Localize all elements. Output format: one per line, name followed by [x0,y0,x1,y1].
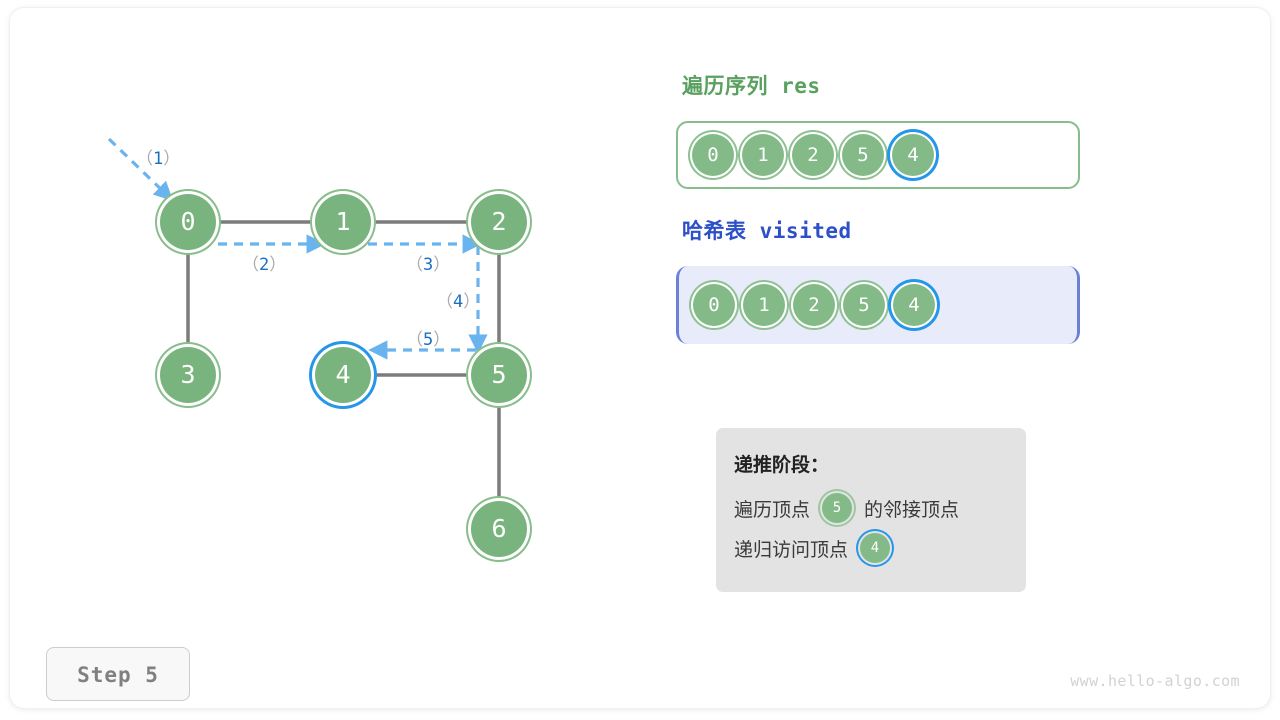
visited-section-title: 哈希表 visited [682,215,852,245]
screenshot-root: （1） （2） （3） （4） （5） 0 1 2 3 4 5 6 遍历序列 r… [0,0,1280,720]
res-array-box: 0 1 2 5 4 [676,121,1080,189]
watermark: www.hello-algo.com [1070,672,1240,690]
info-panel-heading: 递推阶段： [734,450,1026,477]
traversal-label-2: （2） [242,250,286,275]
info-panel-line-1: 遍历顶点 5 的邻接顶点 [734,493,1026,523]
info-line1-suffix: 的邻接顶点 [864,495,959,522]
graph-node-1[interactable]: 1 [315,194,371,250]
visited-array-box: 0 1 2 5 4 [676,266,1080,344]
visited-chip-0[interactable]: 0 [693,284,735,326]
graph-node-0[interactable]: 0 [160,194,216,250]
traversal-label-5: （5） [406,325,450,350]
graph-canvas: （1） （2） （3） （4） （5） 0 1 2 3 4 5 6 [10,8,650,708]
info-line2-prefix: 递归访问顶点 [734,535,848,562]
traversal-label-1: （1） [136,144,180,169]
res-chip-3[interactable]: 5 [842,134,884,176]
visited-chip-1[interactable]: 1 [743,284,785,326]
res-section-title: 遍历序列 res [682,70,821,100]
content-card: （1） （2） （3） （4） （5） 0 1 2 3 4 5 6 遍历序列 r… [10,8,1270,708]
res-chip-1[interactable]: 1 [742,134,784,176]
graph-node-3[interactable]: 3 [160,347,216,403]
graph-node-5[interactable]: 5 [471,347,527,403]
traversal-arrow-group [109,139,478,350]
res-chip-4[interactable]: 4 [892,134,934,176]
info-line1-prefix: 遍历顶点 [734,495,810,522]
graph-node-4[interactable]: 4 [315,347,371,403]
res-chip-2[interactable]: 2 [792,134,834,176]
visited-chip-2[interactable]: 2 [793,284,835,326]
traversal-label-4: （4） [436,287,480,312]
visited-chip-row: 0 1 2 5 4 [693,266,935,344]
res-chip-row: 0 1 2 5 4 [692,123,934,187]
res-chip-0[interactable]: 0 [692,134,734,176]
step-badge: Step 5 [46,647,190,701]
info-badge-vertex-5: 5 [822,493,852,523]
graph-node-2[interactable]: 2 [471,194,527,250]
visited-chip-3[interactable]: 5 [843,284,885,326]
traversal-label-3: （3） [406,250,450,275]
visited-chip-4[interactable]: 4 [893,284,935,326]
info-panel-line-2: 递归访问顶点 4 [734,533,1026,563]
info-badge-vertex-4: 4 [860,533,890,563]
right-panel: 遍历序列 res 0 1 2 5 4 哈希表 visited 0 1 2 5 4 [650,8,1280,708]
info-panel: 递推阶段： 遍历顶点 5 的邻接顶点 递归访问顶点 4 [716,428,1026,592]
graph-node-6[interactable]: 6 [471,501,527,557]
